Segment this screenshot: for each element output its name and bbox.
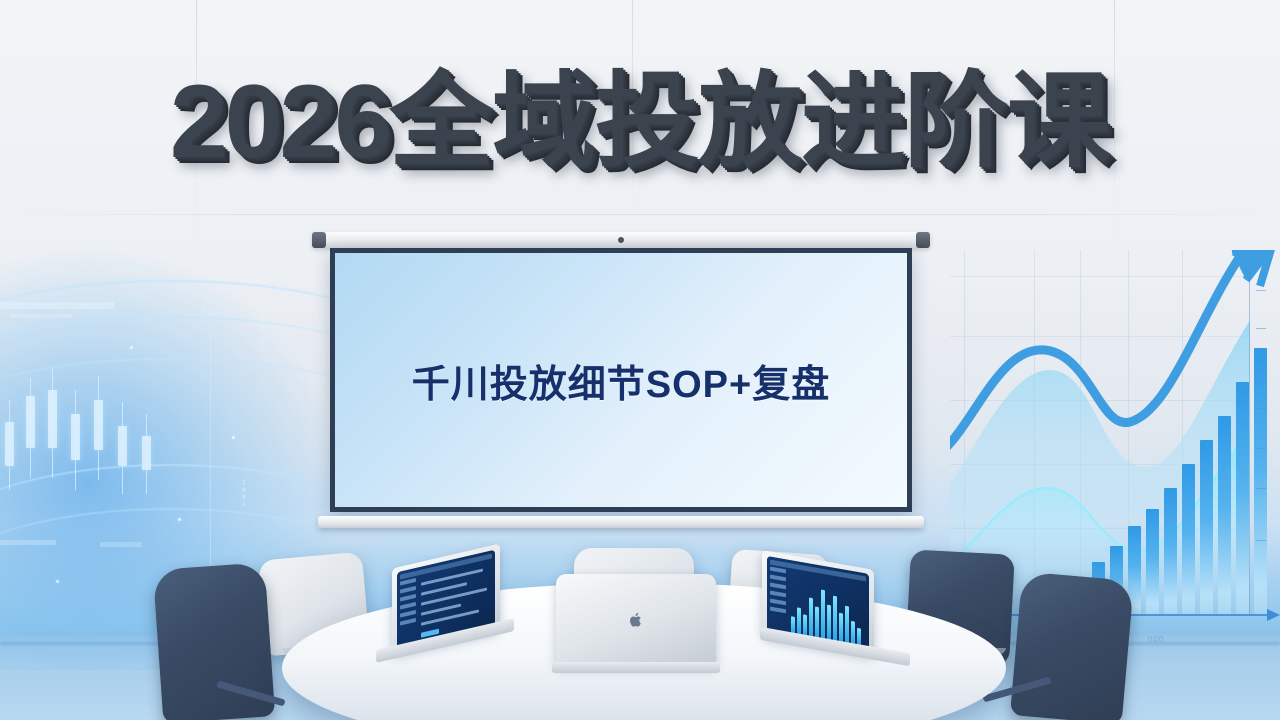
title-year: 2026 [170, 64, 389, 180]
dashboard-bar [833, 596, 837, 641]
tech-digits: 1001 [242, 480, 247, 508]
laptop-center-base [552, 662, 720, 673]
chart-x-tick-label: 000 [1148, 635, 1164, 644]
projector-bottom-bar [318, 516, 924, 528]
dashboard-bar [809, 597, 813, 636]
dashboard-bar [827, 605, 831, 640]
chart-x-axis-arrowhead [1267, 609, 1280, 621]
tech-ribbon-4 [100, 542, 142, 547]
tech-digits: 01101 [260, 318, 265, 353]
dashboard-bar [821, 590, 825, 639]
apple-logo-icon [627, 610, 645, 630]
tech-node-dot [56, 580, 59, 583]
projector-screen-canvas: 千川投放细节SOP+复盘 [335, 253, 907, 507]
laptop-right [762, 560, 912, 672]
dashboard-sidebar [400, 578, 416, 644]
tech-candle [5, 422, 14, 466]
tech-node-dot [232, 436, 235, 439]
chart-y-tick [1256, 328, 1266, 329]
projector-screen-frame: 千川投放细节SOP+复盘 [330, 248, 912, 512]
dashboard-bar [797, 607, 801, 634]
tech-node-dot [178, 518, 181, 521]
chart-y-tick [1256, 488, 1266, 489]
tech-candle [118, 426, 127, 466]
dashboard-bar [851, 621, 855, 644]
tech-ribbon-2 [10, 314, 72, 318]
tech-candle [94, 400, 103, 450]
dashboard-bar [845, 606, 849, 643]
page-title: 2026全域投放进阶课 [0, 70, 1280, 174]
projector-roller-bar [312, 232, 930, 248]
chart-y-tick [1256, 540, 1266, 541]
tech-candle [26, 396, 35, 448]
screen-headline: 千川投放细节SOP+复盘 [412, 353, 830, 408]
tech-candle [71, 414, 80, 460]
chart-y-tick [1256, 368, 1266, 369]
laptop-center [556, 574, 716, 678]
chart-y-tick [1256, 408, 1266, 409]
chair-right-outer [1010, 571, 1134, 720]
tech-candle [142, 436, 151, 470]
tech-ring-icon [204, 300, 219, 315]
tech-ribbon-1 [0, 302, 114, 309]
dashboard-bar [791, 616, 795, 633]
laptop-left [392, 556, 532, 668]
dashboard-bar [803, 614, 807, 635]
title-text: 全域投放进阶课 [389, 64, 1110, 180]
tech-ring-stem [210, 312, 211, 602]
tech-node-dot [130, 346, 133, 349]
projector-screen: 千川投放细节SOP+复盘 [312, 232, 930, 528]
dashboard-bar [857, 628, 861, 645]
tech-candle [48, 390, 57, 448]
tech-ribbon-3 [0, 540, 56, 545]
poster-canvas: 01101 1001 [0, 0, 1280, 720]
dashboard-sidebar [770, 567, 786, 632]
roller-center-dot [618, 237, 624, 243]
chart-y-tick [1256, 290, 1266, 291]
chart-y-tick [1256, 448, 1266, 449]
roller-end-cap-right [916, 232, 930, 248]
chart-y-axis [1249, 260, 1250, 616]
dashboard-bar [839, 613, 843, 642]
dashboard-bar [815, 606, 819, 637]
roller-end-cap-left [312, 232, 326, 248]
wall-seam-horizontal [0, 214, 1280, 215]
